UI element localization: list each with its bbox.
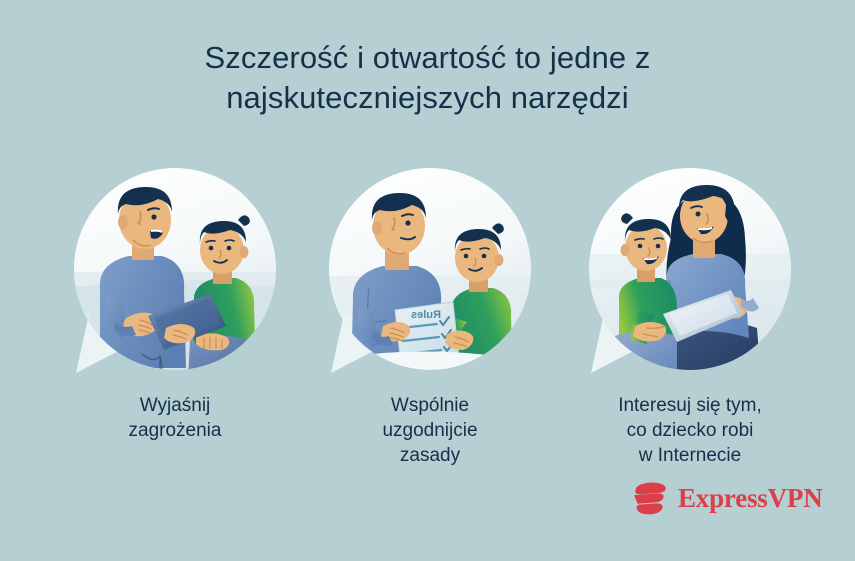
illustration-father-son-rules: Rules	[325, 168, 535, 380]
rules-paper-label: Rules	[411, 309, 441, 321]
scene-1-artwork	[70, 168, 280, 380]
panel-agree-rules: Rules	[325, 168, 535, 468]
panel-explain-threats: Wyjaśnij zagrożenia	[70, 168, 280, 443]
expressvpn-wordmark: ExpressVPN	[678, 485, 823, 512]
expressvpn-logo[interactable]: ExpressVPN	[631, 481, 823, 515]
panel-1-caption: Wyjaśnij zagrożenia	[70, 393, 280, 443]
page-title: Szczerość i otwartość to jedne z najskut…	[0, 38, 855, 119]
infographic-canvas: Szczerość i otwartość to jedne z najskut…	[0, 0, 855, 561]
illustration-father-son-tablet	[70, 168, 280, 380]
scene-2-artwork: Rules	[325, 168, 535, 380]
illustration-mother-son-tablet	[585, 168, 795, 380]
panel-3-caption: Interesuj się tym, co dziecko robi w Int…	[585, 393, 795, 468]
panel-stay-involved: Interesuj się tym, co dziecko robi w Int…	[585, 168, 795, 468]
expressvpn-e-mark	[631, 481, 669, 515]
scene-3-artwork	[585, 168, 795, 380]
panel-2-caption: Wspólnie uzgodnijcie zasady	[325, 393, 535, 468]
